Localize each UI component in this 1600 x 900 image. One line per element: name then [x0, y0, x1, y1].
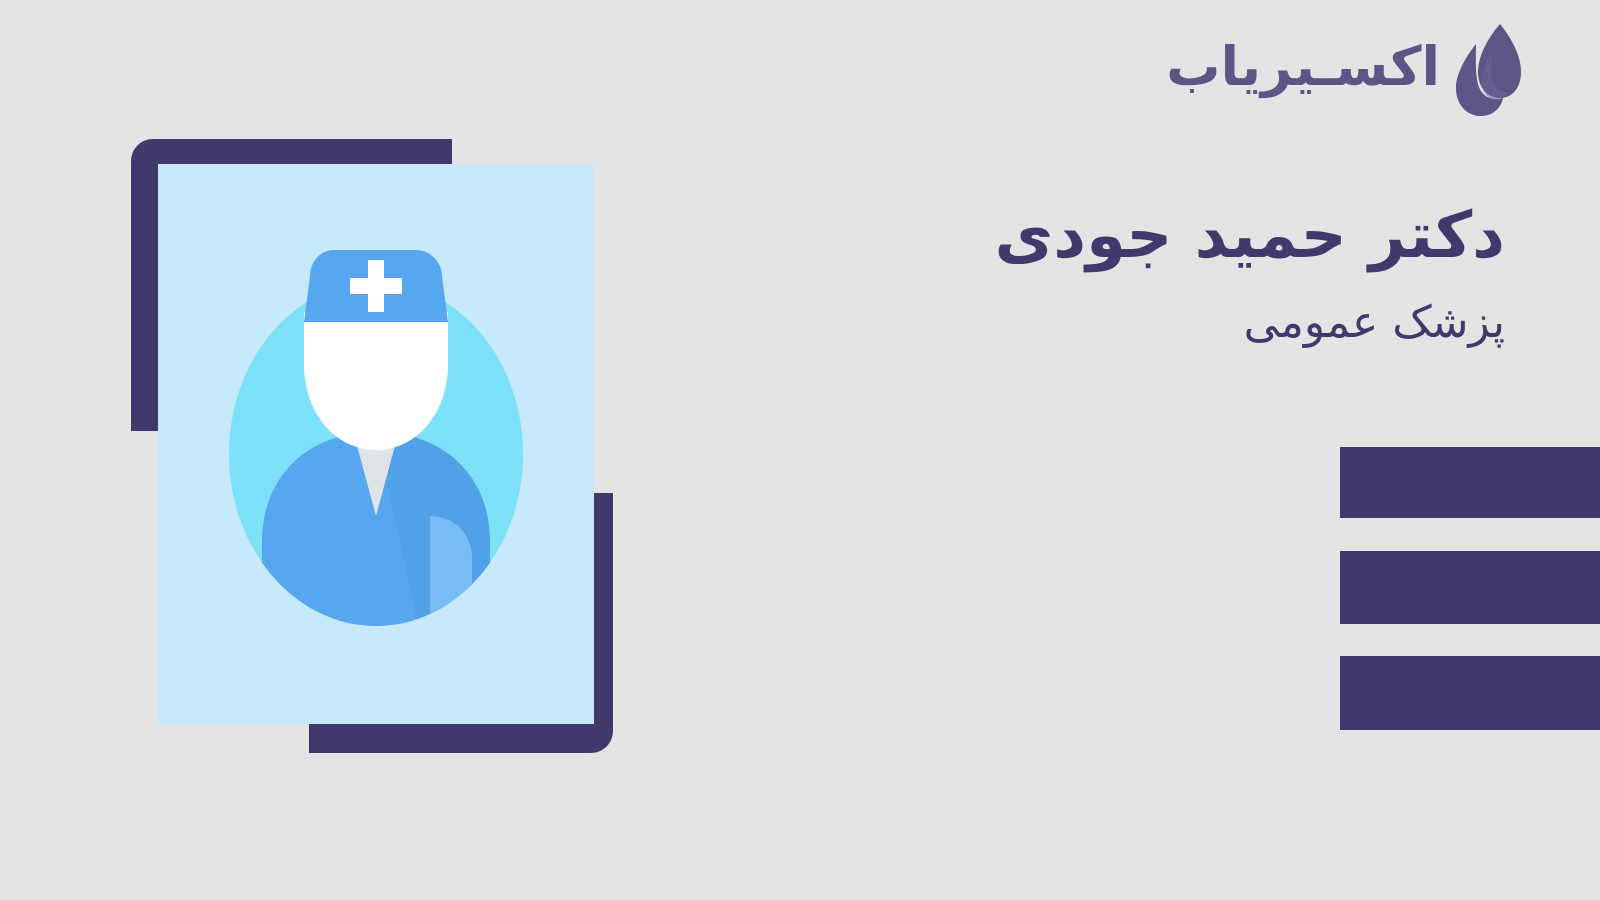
doctor-specialty: پزشک عمومی — [885, 294, 1505, 351]
brand-wordmark: اکسـیریاب — [1166, 40, 1440, 100]
brand-logo[interactable]: اکسـیریاب — [1166, 22, 1522, 118]
decor-bar-1 — [1340, 447, 1600, 518]
flame-droplet-icon — [1448, 22, 1522, 118]
decor-bar-2 — [1340, 551, 1600, 624]
decor-bar-3 — [1340, 656, 1600, 730]
doctor-name: دکتر حمید جودی — [885, 196, 1505, 276]
avatar-graphic — [158, 164, 594, 724]
profile-banner: اکسـیریاب دکتر حمید جودی پزشک عمومی — [0, 0, 1600, 900]
profile-text-block: دکتر حمید جودی پزشک عمومی — [885, 196, 1505, 351]
doctor-avatar-illustration — [131, 139, 621, 753]
